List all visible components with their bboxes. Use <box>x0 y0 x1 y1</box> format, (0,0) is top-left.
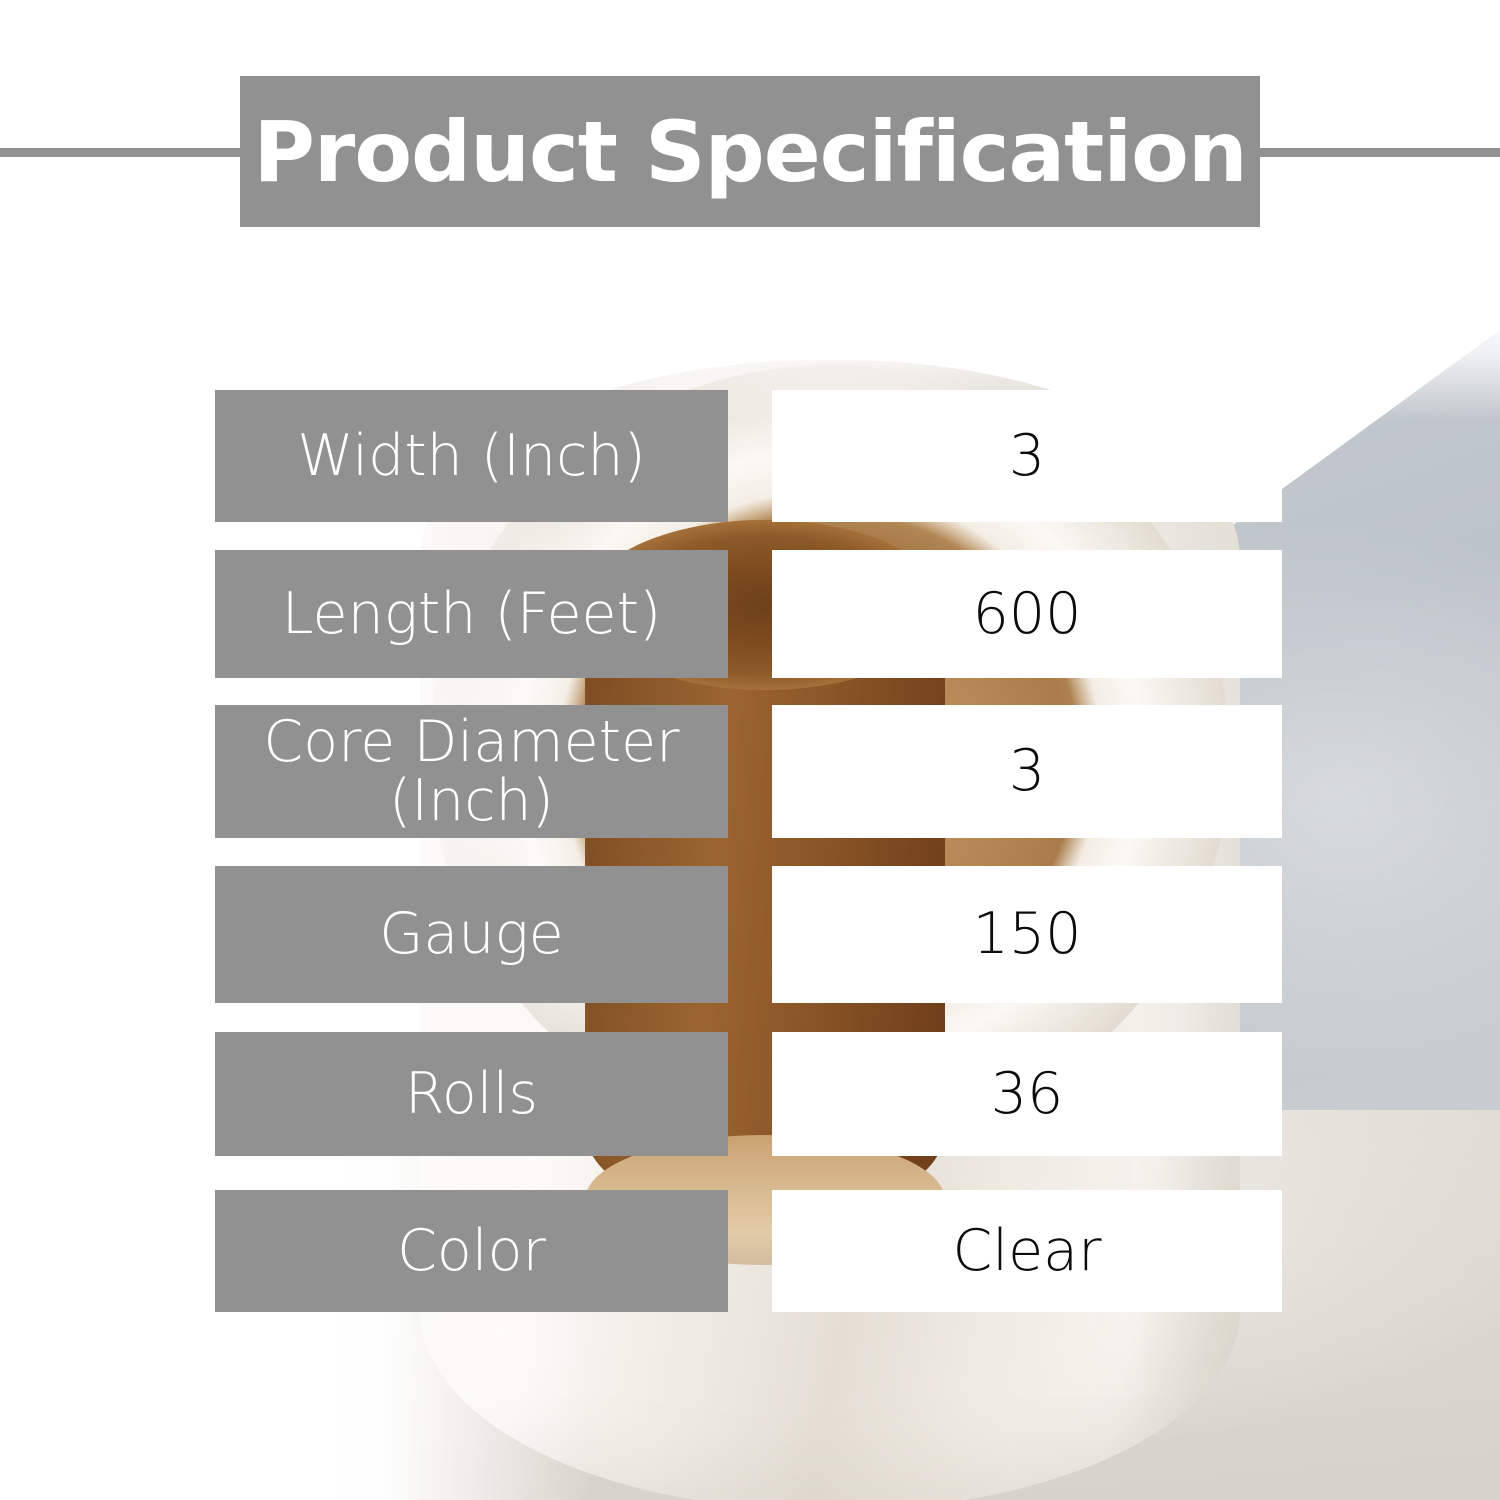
header-rule-right <box>1258 148 1500 157</box>
spec-label-cell: Rolls <box>215 1032 728 1156</box>
spec-label-text: Length (Feet) <box>282 585 661 643</box>
spec-label-cell: Width (Inch) <box>215 390 728 522</box>
spec-value-cell: 600 <box>772 550 1282 678</box>
spec-value-cell: 3 <box>772 705 1282 838</box>
spec-value-cell: Clear <box>772 1190 1282 1312</box>
page-title: Product Specification <box>253 110 1246 194</box>
spec-value-cell: 150 <box>772 866 1282 1003</box>
spec-value-text: 36 <box>991 1066 1064 1123</box>
spec-label-cell: Gauge <box>215 866 728 1003</box>
spec-label-text: Color <box>397 1222 546 1280</box>
spec-label-text: Width (Inch) <box>297 427 646 485</box>
spec-label-text: Core Diameter (Inch) <box>263 713 679 829</box>
spec-label-cell: Color <box>215 1190 728 1312</box>
title-banner: Product Specification <box>240 76 1260 227</box>
product-specification-graphic: Product Specification Width (Inch) 3 Len… <box>0 0 1500 1500</box>
spec-value-cell: 3 <box>772 390 1282 522</box>
spec-label-text: Gauge <box>379 905 564 963</box>
spec-value-text: 600 <box>973 586 1082 643</box>
spec-label-text: Rolls <box>405 1065 538 1123</box>
header-rule-left <box>0 148 242 157</box>
spec-value-text: 3 <box>1009 428 1045 485</box>
spec-label-cell: Core Diameter (Inch) <box>215 705 728 838</box>
spec-value-text: 150 <box>973 906 1082 963</box>
spec-value-text: Clear <box>952 1223 1101 1280</box>
spec-value-cell: 36 <box>772 1032 1282 1156</box>
spec-value-text: 3 <box>1009 743 1045 800</box>
spec-label-cell: Length (Feet) <box>215 550 728 678</box>
